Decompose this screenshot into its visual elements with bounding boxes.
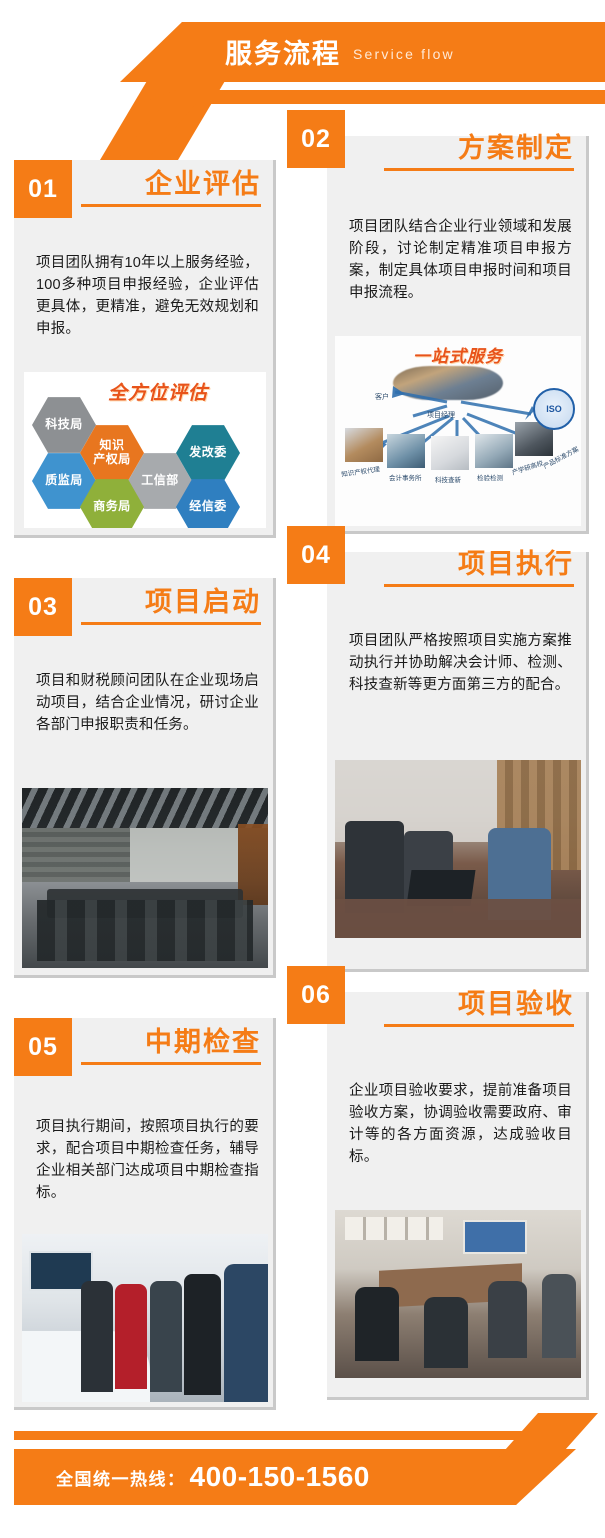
hexagon-diagram-title: 全方位评估: [108, 378, 208, 405]
hex-label: 发改委: [189, 446, 227, 460]
page-subtitle: Service flow: [353, 47, 455, 61]
card-03-photo-meeting-room: [22, 788, 268, 968]
card-02-title-group: 方案制定: [384, 132, 574, 171]
page-footer: 全国统一热线： 400-150-1560: [0, 1413, 605, 1538]
header-stripe: [128, 90, 605, 104]
card-02-number: 02: [287, 110, 345, 168]
title-underline: [384, 1024, 574, 1027]
oss-thumb-accounting: [387, 434, 425, 468]
card-06-body: 企业项目验收要求，提前准备项目验收方案，协调验收需要政府、审计等的各方面资源，达…: [349, 1080, 572, 1168]
hex-label: 经信委: [189, 500, 227, 514]
oss-thumb-ip: [345, 428, 383, 462]
page-title: 服务流程: [225, 41, 341, 68]
card-03-title: 项目启动: [81, 586, 261, 618]
card-01-title: 企业评估: [81, 168, 261, 200]
hex-label: 科技局: [45, 418, 83, 432]
oss-seal-badge: ISO: [533, 388, 575, 430]
hexagon-diagram: 全方位评估 科技局 知识产权局 质监局 工信部 商务局 发改委 经信委: [24, 372, 266, 528]
seal-text: ISO: [546, 404, 562, 414]
card-05-photo-site-visit: [22, 1234, 268, 1402]
card-03-title-group: 项目启动: [81, 586, 261, 625]
card-01-number: 01: [14, 160, 72, 218]
card-06-title: 项目验收: [384, 988, 574, 1020]
card-03-number: 03: [14, 578, 72, 636]
card-01-body: 项目团队拥有10年以上服务经验，100多种项目申报经验，企业评估更具体，更精准，…: [36, 252, 259, 340]
card-02[interactable]: 02 方案制定 项目团队结合企业行业领域和发展阶段，讨论制定精准项目申报方案，制…: [327, 136, 589, 534]
oss-label-pm: 项目经理: [427, 410, 455, 420]
card-05[interactable]: 05 中期检查 项目执行期间，按照项目执行的要求，配合项目中期检查任务，辅导企业…: [14, 1018, 276, 1410]
oss-label-testing: 检验检测: [477, 472, 503, 482]
card-04-title-group: 项目执行: [384, 548, 574, 587]
header-title-group: 服务流程 Service flow: [225, 30, 455, 78]
hex-label: 知识产权局: [93, 439, 131, 467]
card-06[interactable]: 06 项目验收 企业项目验收要求，提前准备项目验收方案，协调验收需要政府、审计等…: [327, 992, 589, 1400]
hex-label: 质监局: [45, 474, 83, 488]
title-underline: [384, 168, 574, 171]
title-underline: [384, 584, 574, 587]
oss-label-khe: 客户: [375, 392, 389, 402]
card-04-photo-work-session: [335, 760, 581, 938]
card-05-title: 中期检查: [81, 1026, 261, 1058]
card-03[interactable]: 03 项目启动 项目和财税顾问团队在企业现场启动项目，结合企业情况，研讨企业各部…: [14, 578, 276, 978]
card-04-title: 项目执行: [384, 548, 574, 580]
hotline-label: 全国统一热线：: [56, 1465, 186, 1490]
oss-label-accounting: 会计事务所: [389, 472, 422, 482]
title-underline: [81, 204, 261, 207]
card-01[interactable]: 01 企业评估 项目团队拥有10年以上服务经验，100多种项目申报经验，企业评估…: [14, 160, 276, 538]
card-04-number: 04: [287, 526, 345, 584]
card-05-body: 项目执行期间，按照项目执行的要求，配合项目中期检查任务，辅导企业相关部门达成项目…: [36, 1116, 259, 1204]
card-06-title-group: 项目验收: [384, 988, 574, 1027]
card-02-title: 方案制定: [384, 132, 574, 164]
hotline-number[interactable]: 400-150-1560: [190, 1461, 370, 1493]
title-underline: [81, 1062, 261, 1065]
card-06-number: 06: [287, 966, 345, 1024]
card-02-body: 项目团队结合企业行业领域和发展阶段，讨论制定精准项目申报方案，制定具体项目申报时…: [349, 216, 572, 304]
service-flow-infographic: 服务流程 Service flow 01 企业评估 项目团队拥有10年以上服务经…: [0, 0, 605, 1538]
oss-thumb-search: [431, 436, 469, 470]
hex-label: 商务局: [93, 500, 131, 514]
card-04[interactable]: 04 项目执行 项目团队严格按照项目实施方案推动执行并协助解决会计师、检测、科技…: [327, 552, 589, 972]
card-06-photo-conference: [335, 1210, 581, 1378]
oss-label-search: 科技查新: [435, 474, 461, 484]
oss-thumb-testing: [475, 434, 513, 468]
hotline-group: 全国统一热线： 400-150-1560: [56, 1449, 370, 1505]
hex-label: 工信部: [141, 474, 179, 488]
card-01-title-group: 企业评估: [81, 168, 261, 207]
card-05-title-group: 中期检查: [81, 1026, 261, 1065]
title-underline: [81, 622, 261, 625]
card-04-body: 项目团队严格按照项目实施方案推动执行并协助解决会计师、检测、科技查新等更方面第三…: [349, 630, 572, 696]
card-05-number: 05: [14, 1018, 72, 1076]
footer-stripe: [14, 1431, 576, 1440]
card-03-body: 项目和财税顾问团队在企业现场启动项目，结合企业情况，研讨企业各部门申报职责和任务…: [36, 670, 259, 736]
one-stop-service-diagram: 一站式服务: [335, 336, 581, 526]
